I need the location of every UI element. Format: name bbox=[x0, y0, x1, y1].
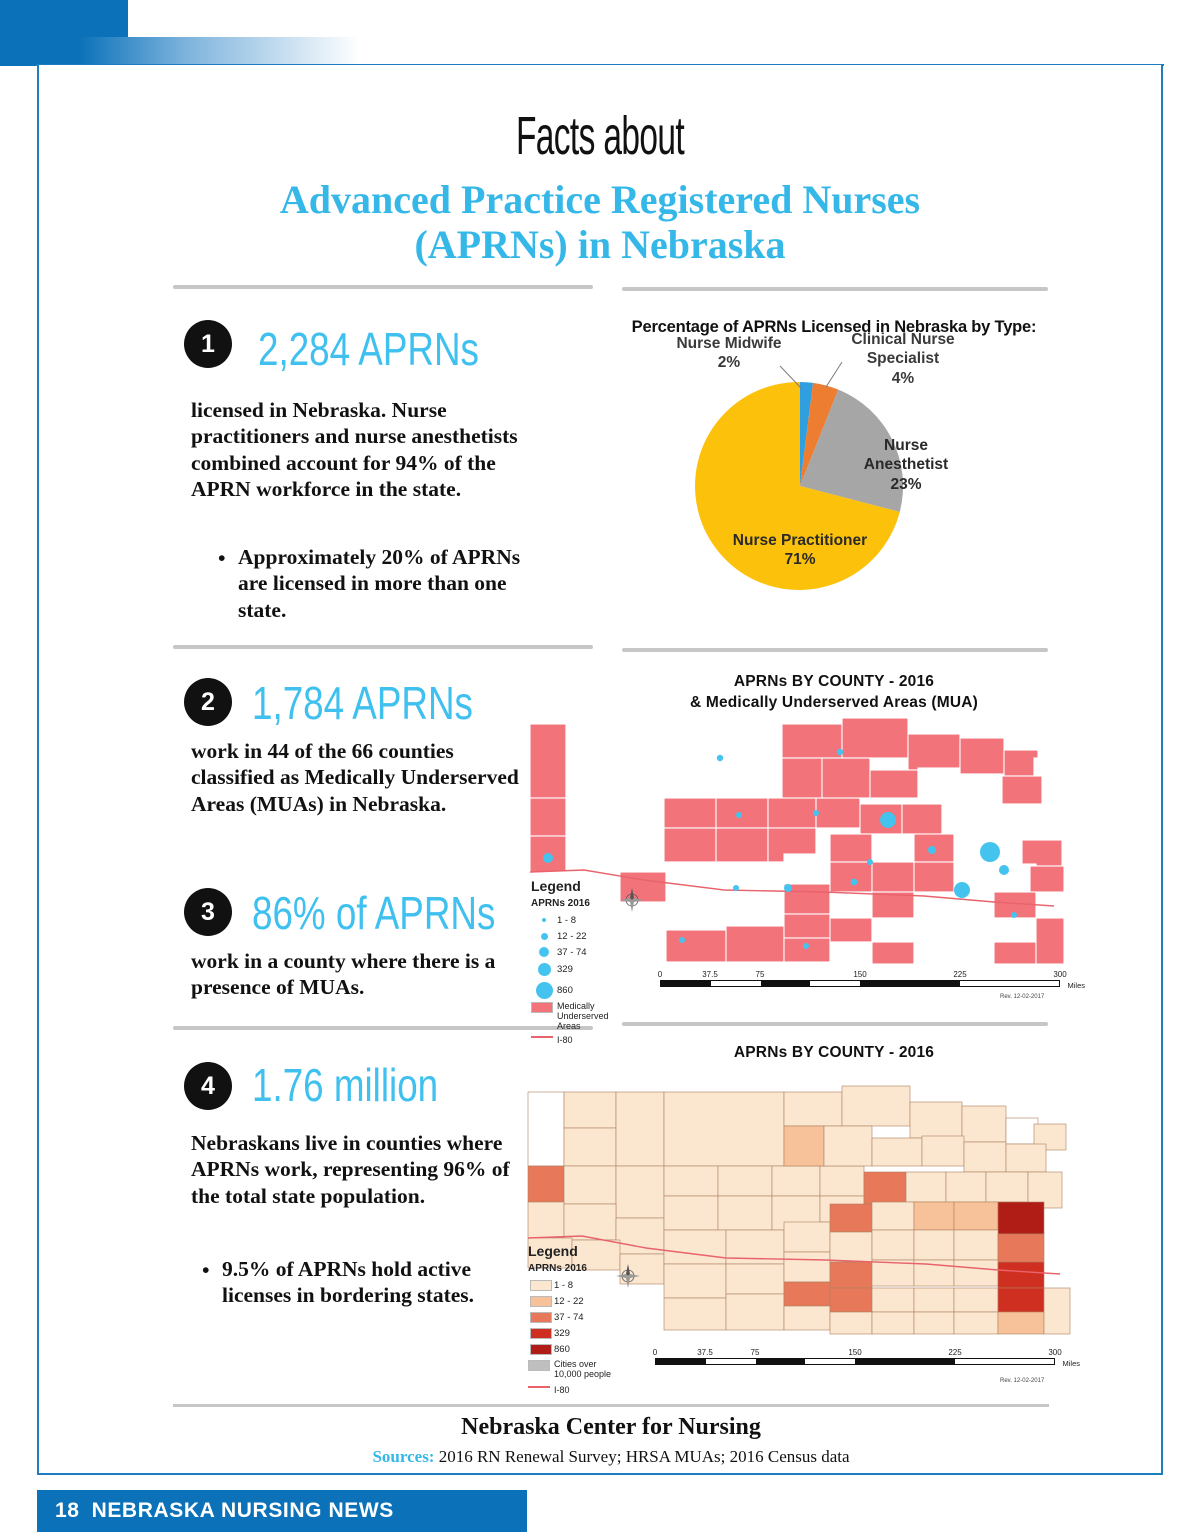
mua-map-scalebar: 0 37.5 75 150 225 300 Miles bbox=[660, 970, 1060, 987]
legend-line-icon bbox=[531, 1036, 557, 1038]
divider-mid-left bbox=[173, 645, 593, 649]
legend-area-swatch-icon bbox=[531, 1002, 557, 1013]
fact-body-2: work in 44 of the 66 counties classified… bbox=[191, 738, 521, 817]
legend-swatch-icon bbox=[528, 1296, 554, 1307]
county-legend-line-label: I-80 bbox=[554, 1386, 570, 1396]
mua-legend-row: 860 bbox=[531, 980, 619, 1000]
scale-tick: 300 bbox=[1048, 1348, 1061, 1357]
scale-tick: 150 bbox=[848, 1348, 861, 1357]
fact-badge-3: 3 bbox=[184, 888, 232, 936]
pie-label-nurse-midwife-name: Nurse Midwife bbox=[670, 334, 788, 353]
mua-map-title-line1: APRNs BY COUNTY - 2016 bbox=[604, 672, 1064, 693]
scale-tick: 0 bbox=[658, 970, 662, 979]
pie-chart-svg bbox=[604, 340, 1064, 620]
county-legend-row-label: 329 bbox=[554, 1328, 570, 1339]
mua-map-title: APRNs BY COUNTY - 2016 & Medically Under… bbox=[604, 672, 1064, 714]
pie-label-nurse-anesthetist-name: Nurse Anesthetist bbox=[844, 436, 968, 475]
county-map-scalebar: 0 37.5 75 150 225 300 Miles bbox=[655, 1348, 1055, 1365]
pie-label-nurse-midwife: Nurse Midwife 2% bbox=[670, 334, 788, 373]
infographic-page: Facts about Advanced Practice Registered… bbox=[0, 0, 1200, 1540]
fact-body-3: work in a county where there is a presen… bbox=[191, 948, 511, 1001]
county-map-legend: Legend APRNs 2016 1 - 8 12 - 22 37 - 74 … bbox=[528, 1243, 620, 1396]
mua-legend-row-label: 860 bbox=[557, 985, 573, 996]
compass-rose-icon bbox=[614, 1262, 642, 1290]
mua-legend-subtitle: APRNs 2016 bbox=[531, 898, 619, 909]
county-map-title: APRNs BY COUNTY - 2016 bbox=[604, 1043, 1064, 1064]
county-legend-city-label: Cities over 10,000 people bbox=[554, 1360, 620, 1380]
mua-map-legend: Legend APRNs 2016 1 - 8 12 - 22 37 - 74 … bbox=[531, 878, 619, 1046]
fact-headline-3: 86% of APRNs bbox=[252, 886, 495, 940]
mua-legend-row-label: 12 - 22 bbox=[557, 931, 587, 942]
county-legend-row: 12 - 22 bbox=[528, 1294, 620, 1308]
county-legend-title: Legend bbox=[528, 1243, 620, 1259]
pie-label-nurse-midwife-value: 2% bbox=[670, 353, 788, 372]
mua-legend-line-label: I-80 bbox=[557, 1036, 573, 1046]
pie-label-clinical-nurse-specialist: Clinical Nurse Specialist 4% bbox=[836, 330, 970, 388]
county-legend-city-row: Cities over 10,000 people bbox=[528, 1360, 620, 1380]
pie-label-nurse-practitioner-name: Nurse Practitioner bbox=[730, 531, 870, 550]
legend-city-swatch-icon bbox=[528, 1360, 554, 1371]
divider-top-left bbox=[173, 285, 593, 289]
fact-body-4: Nebraskans live in counties where APRNs … bbox=[191, 1130, 511, 1209]
footer-divider bbox=[173, 1404, 1049, 1407]
footer-sources-text: 2016 RN Renewal Survey; HRSA MUAs; 2016 … bbox=[434, 1447, 849, 1466]
page-footer-bar: 18 NEBRASKA NURSING NEWS bbox=[37, 1490, 527, 1532]
footer-organization: Nebraska Center for Nursing bbox=[173, 1414, 1049, 1441]
legend-swatch-icon bbox=[528, 1312, 554, 1323]
page-title-small: Facts about bbox=[228, 105, 972, 167]
legend-dot-icon bbox=[531, 933, 557, 940]
divider-mid-right bbox=[622, 648, 1048, 652]
legend-dot-icon bbox=[531, 918, 557, 922]
bullet-dot-icon: • bbox=[218, 545, 226, 571]
mua-legend-row-label: 37 - 74 bbox=[557, 947, 587, 958]
scale-units: Miles bbox=[1067, 981, 1085, 990]
pie-label-nurse-anesthetist: Nurse Anesthetist 23% bbox=[844, 436, 968, 494]
fact-headline-4: 1.76 million bbox=[252, 1058, 438, 1112]
county-legend-row: 860 bbox=[528, 1342, 620, 1356]
mua-legend-row-label: 1 - 8 bbox=[557, 915, 576, 926]
page-footer-content: 18 NEBRASKA NURSING NEWS bbox=[55, 1490, 394, 1532]
county-legend-row-label: 12 - 22 bbox=[554, 1296, 584, 1307]
scale-tick: 225 bbox=[948, 1348, 961, 1357]
fact-headline-1: 2,284 APRNs bbox=[258, 322, 479, 376]
county-legend-subtitle: APRNs 2016 bbox=[528, 1263, 620, 1274]
county-legend-row-label: 860 bbox=[554, 1344, 570, 1355]
bullet-dot-icon: • bbox=[202, 1257, 210, 1283]
scale-tick: 300 bbox=[1053, 970, 1066, 979]
fact-badge-4: 4 bbox=[184, 1062, 232, 1110]
legend-dot-icon bbox=[531, 982, 557, 999]
pie-label-clinical-nurse-specialist-value: 4% bbox=[836, 369, 970, 388]
pie-label-nurse-practitioner-value: 71% bbox=[730, 550, 870, 569]
county-scalebar-ticks: 0 37.5 75 150 225 300 bbox=[655, 1348, 1055, 1358]
mua-legend-title: Legend bbox=[531, 878, 619, 894]
legend-swatch-icon bbox=[528, 1344, 554, 1355]
mua-legend-area-label: Medically Underserved Areas bbox=[557, 1002, 619, 1032]
county-legend-row: 1 - 8 bbox=[528, 1278, 620, 1292]
compass-rose-icon bbox=[618, 886, 646, 914]
legend-dot-icon bbox=[531, 947, 557, 957]
county-legend-row: 329 bbox=[528, 1326, 620, 1340]
county-map-credit: Rev. 12-02-2017 bbox=[1000, 1378, 1044, 1384]
mua-legend-row: 37 - 74 bbox=[531, 945, 619, 959]
page-number: 18 bbox=[55, 1499, 80, 1523]
pie-label-clinical-nurse-specialist-name: Clinical Nurse Specialist bbox=[836, 330, 970, 369]
pie-label-nurse-anesthetist-value: 23% bbox=[844, 475, 968, 494]
mua-legend-row: 1 - 8 bbox=[531, 913, 619, 927]
fact-badge-1: 1 bbox=[184, 320, 232, 368]
page-title-line1: Advanced Practice Registered Nurses bbox=[180, 178, 1020, 223]
legend-dot-icon bbox=[531, 963, 557, 976]
county-legend-row-label: 37 - 74 bbox=[554, 1312, 584, 1323]
scale-tick: 225 bbox=[953, 970, 966, 979]
scale-units: Miles bbox=[1062, 1359, 1080, 1368]
fact-bullet-1: • Approximately 20% of APRNs are license… bbox=[238, 544, 528, 623]
scale-tick: 75 bbox=[756, 970, 765, 979]
publication-name: NEBRASKA NURSING NEWS bbox=[92, 1499, 394, 1523]
scale-tick: 37.5 bbox=[697, 1348, 713, 1357]
legend-line-icon bbox=[528, 1386, 554, 1388]
county-legend-row-label: 1 - 8 bbox=[554, 1280, 573, 1291]
divider-low-right bbox=[622, 1022, 1048, 1026]
fact-bullet-4-text: 9.5% of APRNs hold active licenses in bo… bbox=[222, 1257, 474, 1307]
footer-sources-label: Sources: bbox=[372, 1447, 434, 1466]
pie-label-nurse-practitioner: Nurse Practitioner 71% bbox=[730, 531, 870, 570]
fact-bullet-4: • 9.5% of APRNs hold active licenses in … bbox=[222, 1256, 512, 1309]
mua-map-credit: Rev. 12-02-2017 bbox=[1000, 994, 1044, 1000]
pie-chart: Nurse Midwife 2% Clinical Nurse Speciali… bbox=[604, 340, 1064, 620]
fact-body-1: licensed in Nebraska. Nurse practitioner… bbox=[191, 397, 539, 503]
scale-tick: 37.5 bbox=[702, 970, 718, 979]
mua-legend-area-row: Medically Underserved Areas bbox=[531, 1002, 619, 1032]
header-gradient-strip bbox=[0, 37, 360, 66]
scale-tick: 150 bbox=[853, 970, 866, 979]
mua-legend-row: 12 - 22 bbox=[531, 929, 619, 943]
page-title-line2: (APRNs) in Nebraska bbox=[180, 223, 1020, 268]
page-title: Advanced Practice Registered Nurses (APR… bbox=[180, 178, 1020, 268]
county-legend-row: 37 - 74 bbox=[528, 1310, 620, 1324]
scale-tick: 75 bbox=[751, 1348, 760, 1357]
mua-scalebar-bar: Miles bbox=[660, 980, 1060, 987]
fact-bullet-1-text: Approximately 20% of APRNs are licensed … bbox=[238, 545, 520, 622]
mua-legend-row: 329 bbox=[531, 961, 619, 978]
county-map-title-line1: APRNs BY COUNTY - 2016 bbox=[604, 1043, 1064, 1064]
mua-scalebar-ticks: 0 37.5 75 150 225 300 bbox=[660, 970, 1060, 980]
fact-badge-2: 2 bbox=[184, 678, 232, 726]
mua-legend-row-label: 329 bbox=[557, 964, 573, 975]
footer-sources: Sources: 2016 RN Renewal Survey; HRSA MU… bbox=[173, 1447, 1049, 1467]
county-scalebar-bar: Miles bbox=[655, 1358, 1055, 1365]
legend-swatch-icon bbox=[528, 1328, 554, 1339]
divider-low-left bbox=[173, 1026, 593, 1030]
legend-swatch-icon bbox=[528, 1280, 554, 1291]
scale-tick: 0 bbox=[653, 1348, 657, 1357]
divider-top-right bbox=[622, 287, 1048, 291]
county-legend-line-row: I-80 bbox=[528, 1386, 620, 1396]
fact-headline-2: 1,784 APRNs bbox=[252, 676, 473, 730]
